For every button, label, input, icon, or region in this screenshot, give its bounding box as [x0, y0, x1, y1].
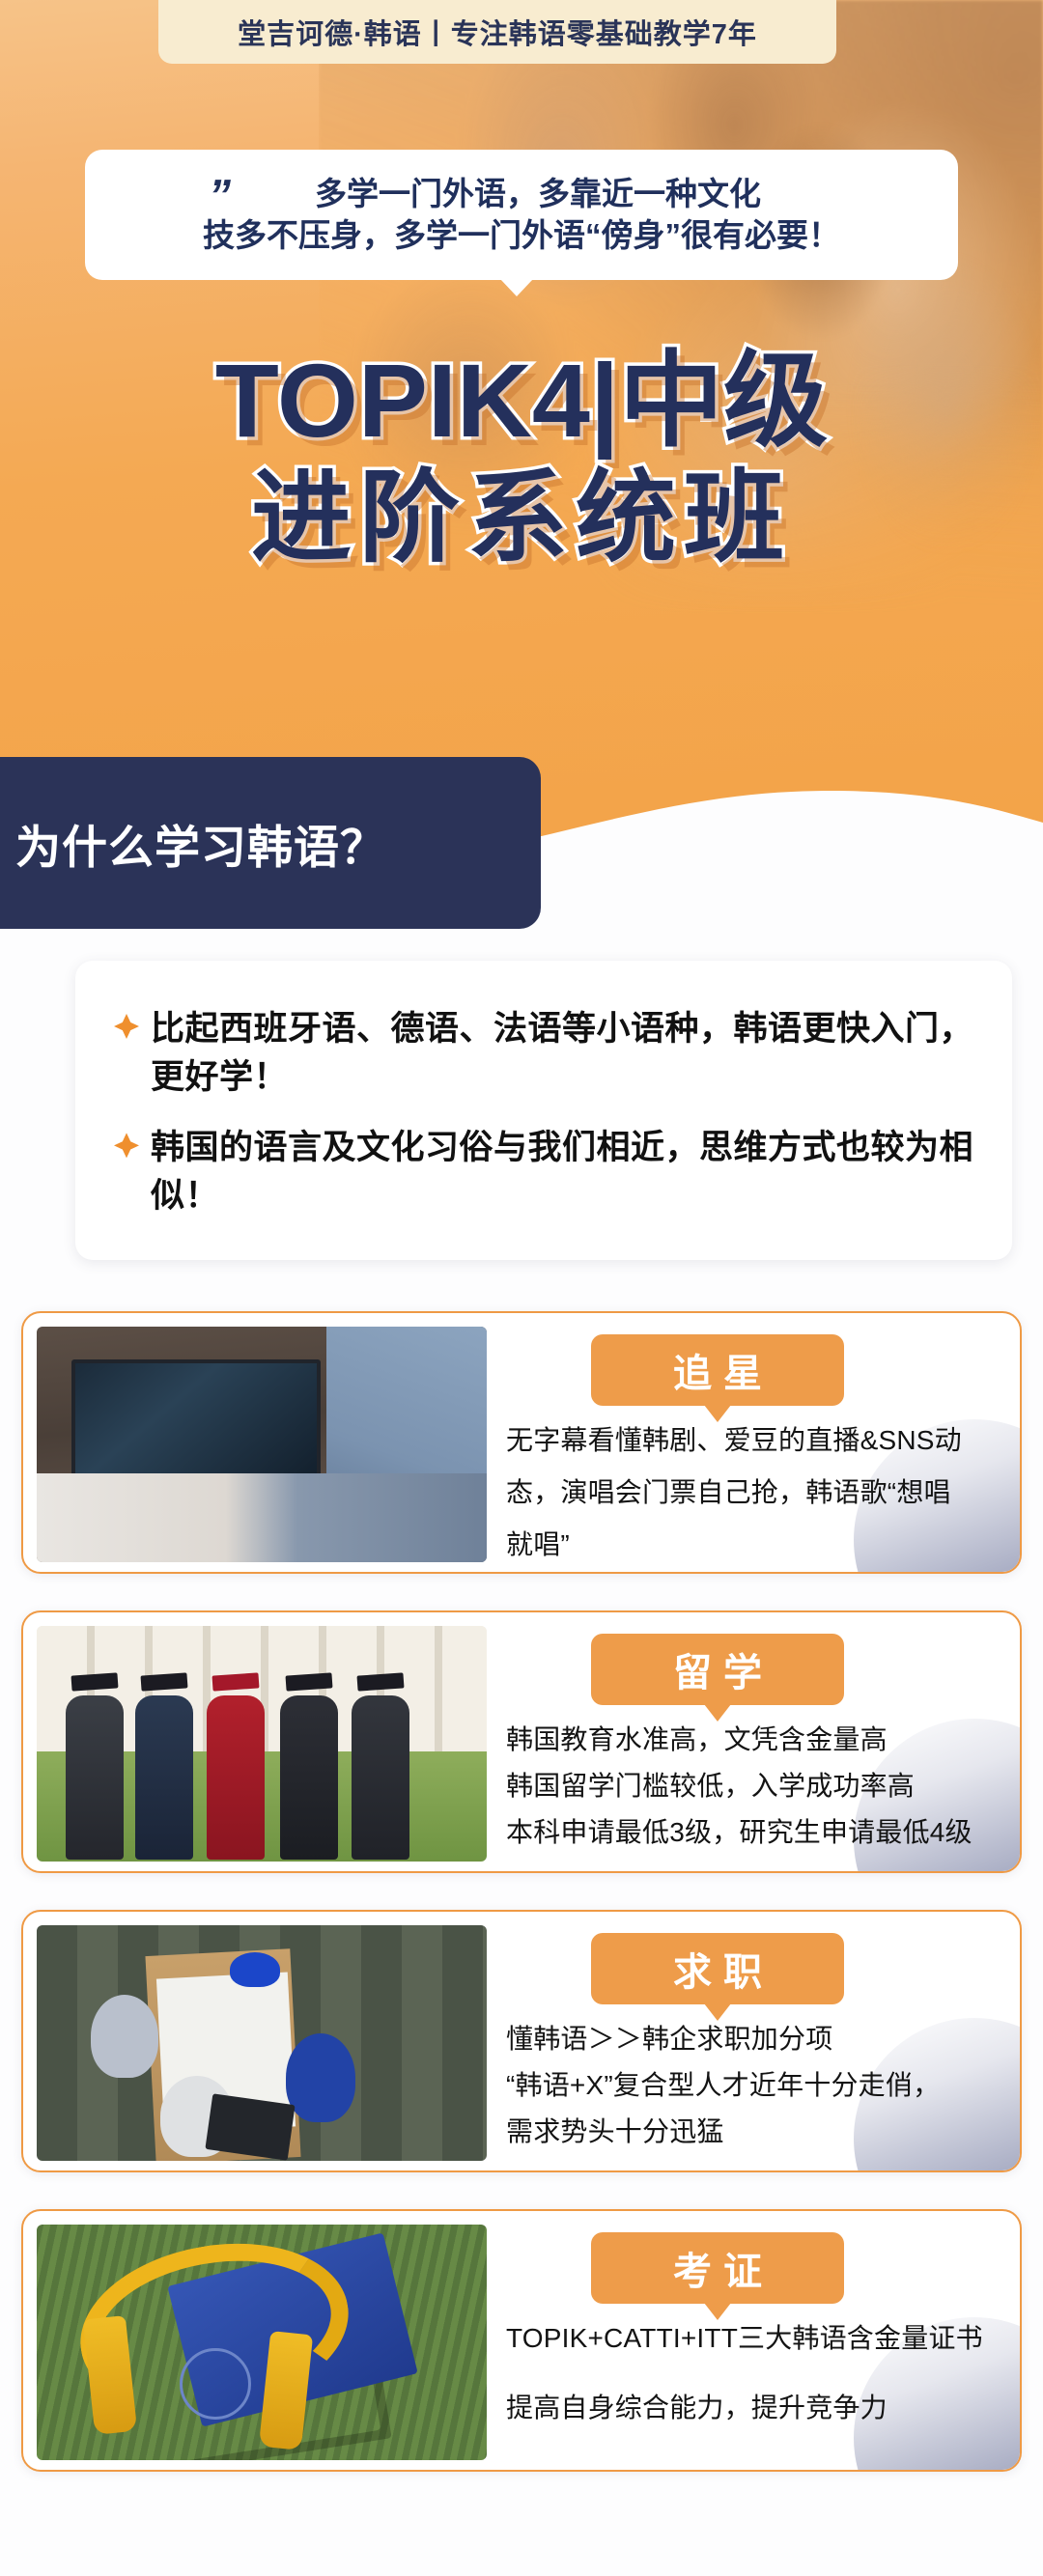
feature-card-certification[interactable]: 考证 TOPIK+CATTI+ITT三大韩语含金量证书 提高自身综合能力，提升竞…: [21, 2209, 1022, 2472]
feature-card-label-3: 求职: [662, 1941, 774, 1997]
feature-card-job-hunting[interactable]: 求职 懂韩语＞＞韩企求职加分项 “韩语+X”复合型人才近年十分走俏， 需求势头十…: [21, 1910, 1022, 2172]
diamond-bullet-icon: [114, 1133, 139, 1158]
feature-line: 态，演唱会门票自己抢，韩语歌“想唱: [506, 1479, 1012, 1506]
feature-card-content-2: 留学 韩国教育水准高，文凭含金量高 韩国留学门槛较低，入学成功率高 本科申请最低…: [506, 1612, 1020, 1871]
list-item: 韩国的语言及文化习俗与我们相近，思维方式也较为相似！: [114, 1124, 973, 1219]
feature-card-content-3: 求职 懂韩语＞＞韩企求职加分项 “韩语+X”复合型人才近年十分走俏， 需求势头十…: [506, 1912, 1020, 2170]
section-header-why-learn-korean: 为什么学习韩语？: [0, 757, 541, 929]
feature-line: 本科申请最低3级，研究生申请最低4级: [506, 1819, 1012, 1846]
feature-card-image-2: [37, 1626, 487, 1862]
feature-card-label-tab-2: 留学: [591, 1634, 844, 1705]
feature-card-image-4: [37, 2225, 487, 2460]
quote-line-2: 技多不压身，多学一门外语“傍身”很有必要！: [203, 215, 840, 257]
feature-card-image-1: [37, 1327, 487, 1562]
feature-line: 就唱”: [506, 1531, 1012, 1558]
feature-card-body-2: 韩国教育水准高，文凭含金量高 韩国留学门槛较低，入学成功率高 本科申请最低3级，…: [506, 1726, 1012, 1865]
feature-card-label-tab-3: 求职: [591, 1933, 844, 2004]
page-title-line-1: TOPIK4|中级: [0, 340, 1043, 461]
feature-card-label-4: 考证: [662, 2240, 774, 2296]
feature-card-body-3: 懂韩语＞＞韩企求职加分项 “韩语+X”复合型人才近年十分走俏， 需求势头十分迅猛: [506, 2026, 1012, 2165]
feature-card-chasing-stars[interactable]: 追星 无字幕看懂韩剧、爱豆的直播&SNS动 态，演唱会门票自己抢，韩语歌“想唱 …: [21, 1311, 1022, 1574]
feature-line: 无字幕看懂韩剧、爱豆的直播&SNS动: [506, 1427, 1012, 1454]
feature-card-body-1: 无字幕看懂韩剧、爱豆的直播&SNS动 态，演唱会门票自己抢，韩语歌“想唱 就唱”: [506, 1427, 1012, 1574]
feature-line: TOPIK+CATTI+ITT三大韩语含金量证书: [506, 2325, 1012, 2352]
feature-line: 提高自身综合能力，提升竞争力: [506, 2394, 1012, 2422]
feature-card-label-tab-1: 追星: [591, 1334, 844, 1406]
diamond-bullet-icon: [114, 1014, 139, 1039]
quote-line-1: 多学一门外语，多靠近一种文化: [282, 174, 761, 215]
feature-line: “韩语+X”复合型人才近年十分走俏，: [506, 2072, 1012, 2099]
page-title: TOPIK4|中级 进阶系统班: [0, 340, 1043, 577]
feature-card-content-4: 考证 TOPIK+CATTI+ITT三大韩语含金量证书 提高自身综合能力，提升竞…: [506, 2211, 1020, 2470]
brand-header-bar: 堂吉诃德·韩语丨专注韩语零基础教学7年: [158, 0, 836, 64]
page-title-line-2: 进阶系统班: [0, 461, 1043, 577]
feature-line: 需求势头十分迅猛: [506, 2118, 1012, 2145]
quote-mark-icon: ”: [209, 173, 227, 217]
feature-line: 韩国留学门槛较低，入学成功率高: [506, 1773, 1012, 1800]
list-item: 比起西班牙语、德语、法语等小语种，韩语更快入门，更好学！: [114, 1005, 973, 1101]
feature-card-image-3: [37, 1925, 487, 2161]
feature-line: 韩国教育水准高，文凭含金量高: [506, 1726, 1012, 1753]
benefits-card: 比起西班牙语、德语、法语等小语种，韩语更快入门，更好学！ 韩国的语言及文化习俗与…: [75, 961, 1012, 1260]
benefit-text-2: 韩国的语言及文化习俗与我们相近，思维方式也较为相似！: [151, 1124, 973, 1219]
feature-line: 懂韩语＞＞韩企求职加分项: [506, 2026, 1012, 2053]
feature-card-label-2: 留学: [662, 1641, 774, 1697]
feature-card-body-4: TOPIK+CATTI+ITT三大韩语含金量证书 提高自身综合能力，提升竞争力: [506, 2325, 1012, 2464]
feature-card-label-tab-4: 考证: [591, 2232, 844, 2304]
brand-title: 堂吉诃德·韩语丨专注韩语零基础教学7年: [238, 12, 757, 52]
quote-card: ” 多学一门外语，多靠近一种文化 技多不压身，多学一门外语“傍身”很有必要！: [85, 150, 958, 280]
feature-card-content-1: 追星 无字幕看懂韩剧、爱豆的直播&SNS动 态，演唱会门票自己抢，韩语歌“想唱 …: [506, 1313, 1020, 1572]
feature-card-label-1: 追星: [662, 1342, 774, 1398]
benefit-text-1: 比起西班牙语、德语、法语等小语种，韩语更快入门，更好学！: [151, 1005, 973, 1101]
feature-card-study-abroad[interactable]: 留学 韩国教育水准高，文凭含金量高 韩国留学门槛较低，入学成功率高 本科申请最低…: [21, 1610, 1022, 1873]
section-header-label: 为什么学习韩语？: [0, 810, 386, 877]
